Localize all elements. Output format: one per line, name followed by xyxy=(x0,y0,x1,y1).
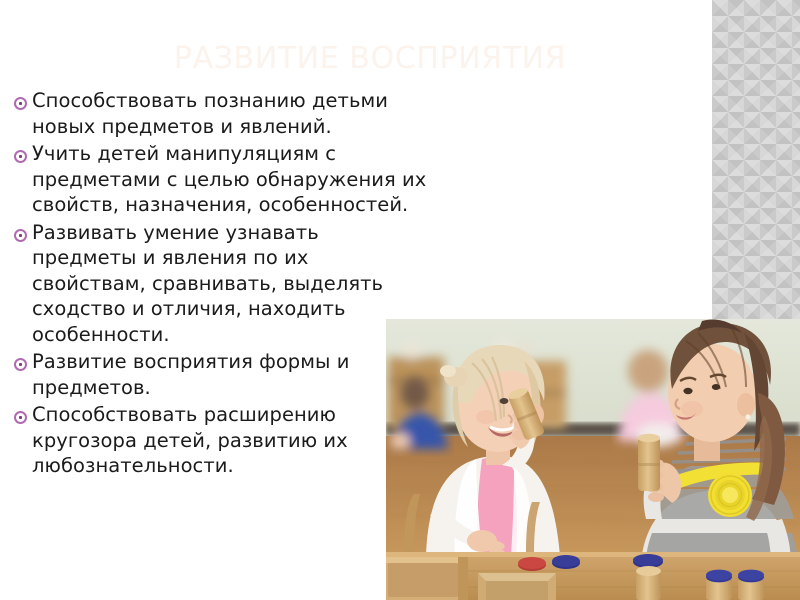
slide-canvas: Развитие восприятия Способствовать позна… xyxy=(0,0,800,600)
diamond-argyle-pattern-icon xyxy=(712,0,800,319)
photo-illustration xyxy=(386,319,800,600)
list-item-text: Способствовать познанию детьми новых пре… xyxy=(32,88,428,139)
list-item-text: Развивать умение узнавать предметы и явл… xyxy=(32,220,428,348)
list-item-text: Развитие восприятия формы и предметов. xyxy=(32,349,428,400)
list-item: Развивать умение узнавать предметы и явл… xyxy=(8,220,428,348)
list-item-text: Способствовать расширению кругозора дете… xyxy=(32,402,428,479)
ring-dot-bullet-icon xyxy=(8,88,32,110)
list-item: Развитие восприятия формы и предметов. xyxy=(8,349,428,400)
ring-dot-bullet-icon xyxy=(8,402,32,424)
ring-dot-bullet-icon xyxy=(8,349,32,371)
photo-two-girls-montessori-sound-cylinders xyxy=(386,319,800,600)
page-title: Развитие восприятия xyxy=(40,42,700,76)
list-item: Способствовать расширению кругозора дете… xyxy=(8,402,428,479)
list-item: Учить детей манипуляциям с предметами с … xyxy=(8,141,428,218)
list-item: Способствовать познанию детьми новых пре… xyxy=(8,88,428,139)
ring-dot-bullet-icon xyxy=(8,141,32,163)
list-item-text: Учить детей манипуляциям с предметами с … xyxy=(32,141,428,218)
bullet-list: Способствовать познанию детьми новых пре… xyxy=(8,88,428,481)
ring-dot-bullet-icon xyxy=(8,220,32,242)
